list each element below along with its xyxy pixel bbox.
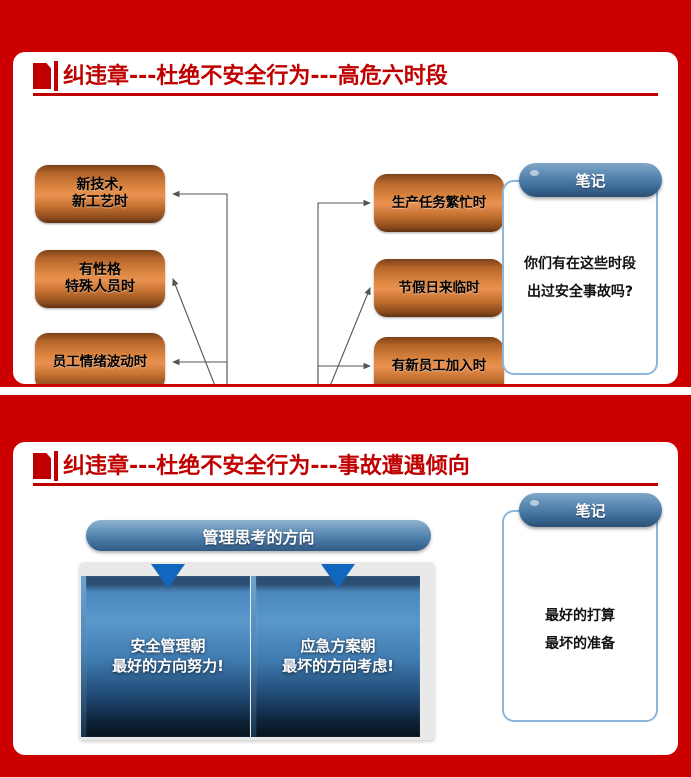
factor-box-new-employee[interactable]: 有新员工加入时 [374, 337, 504, 384]
slide-2-title: 纠违章---杜绝不安全行为---事故遭遇倾向 [63, 448, 470, 480]
factor-box-holiday-approaching[interactable]: 节假日来临时 [374, 259, 504, 317]
factor-box-text: 有新员工加入时 [392, 358, 487, 375]
factor-box-text: 生产任务繁忙时 [392, 195, 487, 212]
slide-1: 纠违章---杜绝不安全行为---高危六时段 新技术, 新工艺时 [13, 52, 678, 384]
section-title-label: 管理思考的方向 [202, 524, 314, 548]
note-line-1: 最好的打算 [504, 602, 656, 630]
factor-box-text: 有性格 特殊人员时 [65, 262, 135, 297]
note-header-label: 笔记 [575, 170, 605, 191]
red-flag-icon [33, 453, 51, 479]
direction-panel-emergency-plan[interactable]: 应急方案朝 最坏的方向考虑! [256, 576, 420, 737]
title-underline [33, 483, 658, 486]
factor-box-new-technology[interactable]: 新技术, 新工艺时 [35, 165, 165, 223]
factor-box-text: 员工情绪波动时 [53, 354, 148, 371]
factor-box-special-personality[interactable]: 有性格 特殊人员时 [35, 250, 165, 308]
note-card-2: 最好的打算 最坏的准备 [502, 510, 658, 722]
note-card-1: 你们有在这些时段 出过安全事故吗? [502, 180, 658, 375]
note-card-2-body: 最好的打算 最坏的准备 [504, 602, 656, 658]
note-card-1-body: 你们有在这些时段 出过安全事故吗? [504, 250, 656, 306]
down-arrow-icon [321, 564, 355, 588]
note-line-2: 最坏的准备 [504, 630, 656, 658]
note-header-pill-1: 笔记 [519, 163, 662, 197]
title-accent-bar [54, 451, 58, 481]
slide-2-header: 纠违章---杜绝不安全行为---事故遭遇倾向 [13, 442, 678, 490]
down-arrow-icon [151, 564, 185, 588]
direction-panel-text: 安全管理朝 最好的方向努力! [86, 636, 250, 677]
note-line-1: 你们有在这些时段 [504, 250, 656, 278]
direction-panel-text: 应急方案朝 最坏的方向考虑! [256, 636, 420, 677]
note-line-2: 出过安全事故吗? [504, 278, 656, 306]
factor-box-text: 节假日来临时 [399, 280, 480, 297]
note-header-label: 笔记 [575, 500, 605, 521]
factor-box-text: 新技术, 新工艺时 [72, 177, 128, 212]
slide-separator [0, 387, 691, 395]
factor-box-busy-production[interactable]: 生产任务繁忙时 [374, 174, 504, 232]
note-header-pill-2: 笔记 [519, 493, 662, 527]
screenshot-root: 纠违章---杜绝不安全行为---高危六时段 新技术, 新工艺时 [0, 0, 691, 777]
direction-panel-safety-management[interactable]: 安全管理朝 最好的方向努力! [86, 576, 250, 737]
section-title-pill: 管理思考的方向 [86, 520, 431, 551]
factor-box-mood-fluctuation[interactable]: 员工情绪波动时 [35, 333, 165, 384]
